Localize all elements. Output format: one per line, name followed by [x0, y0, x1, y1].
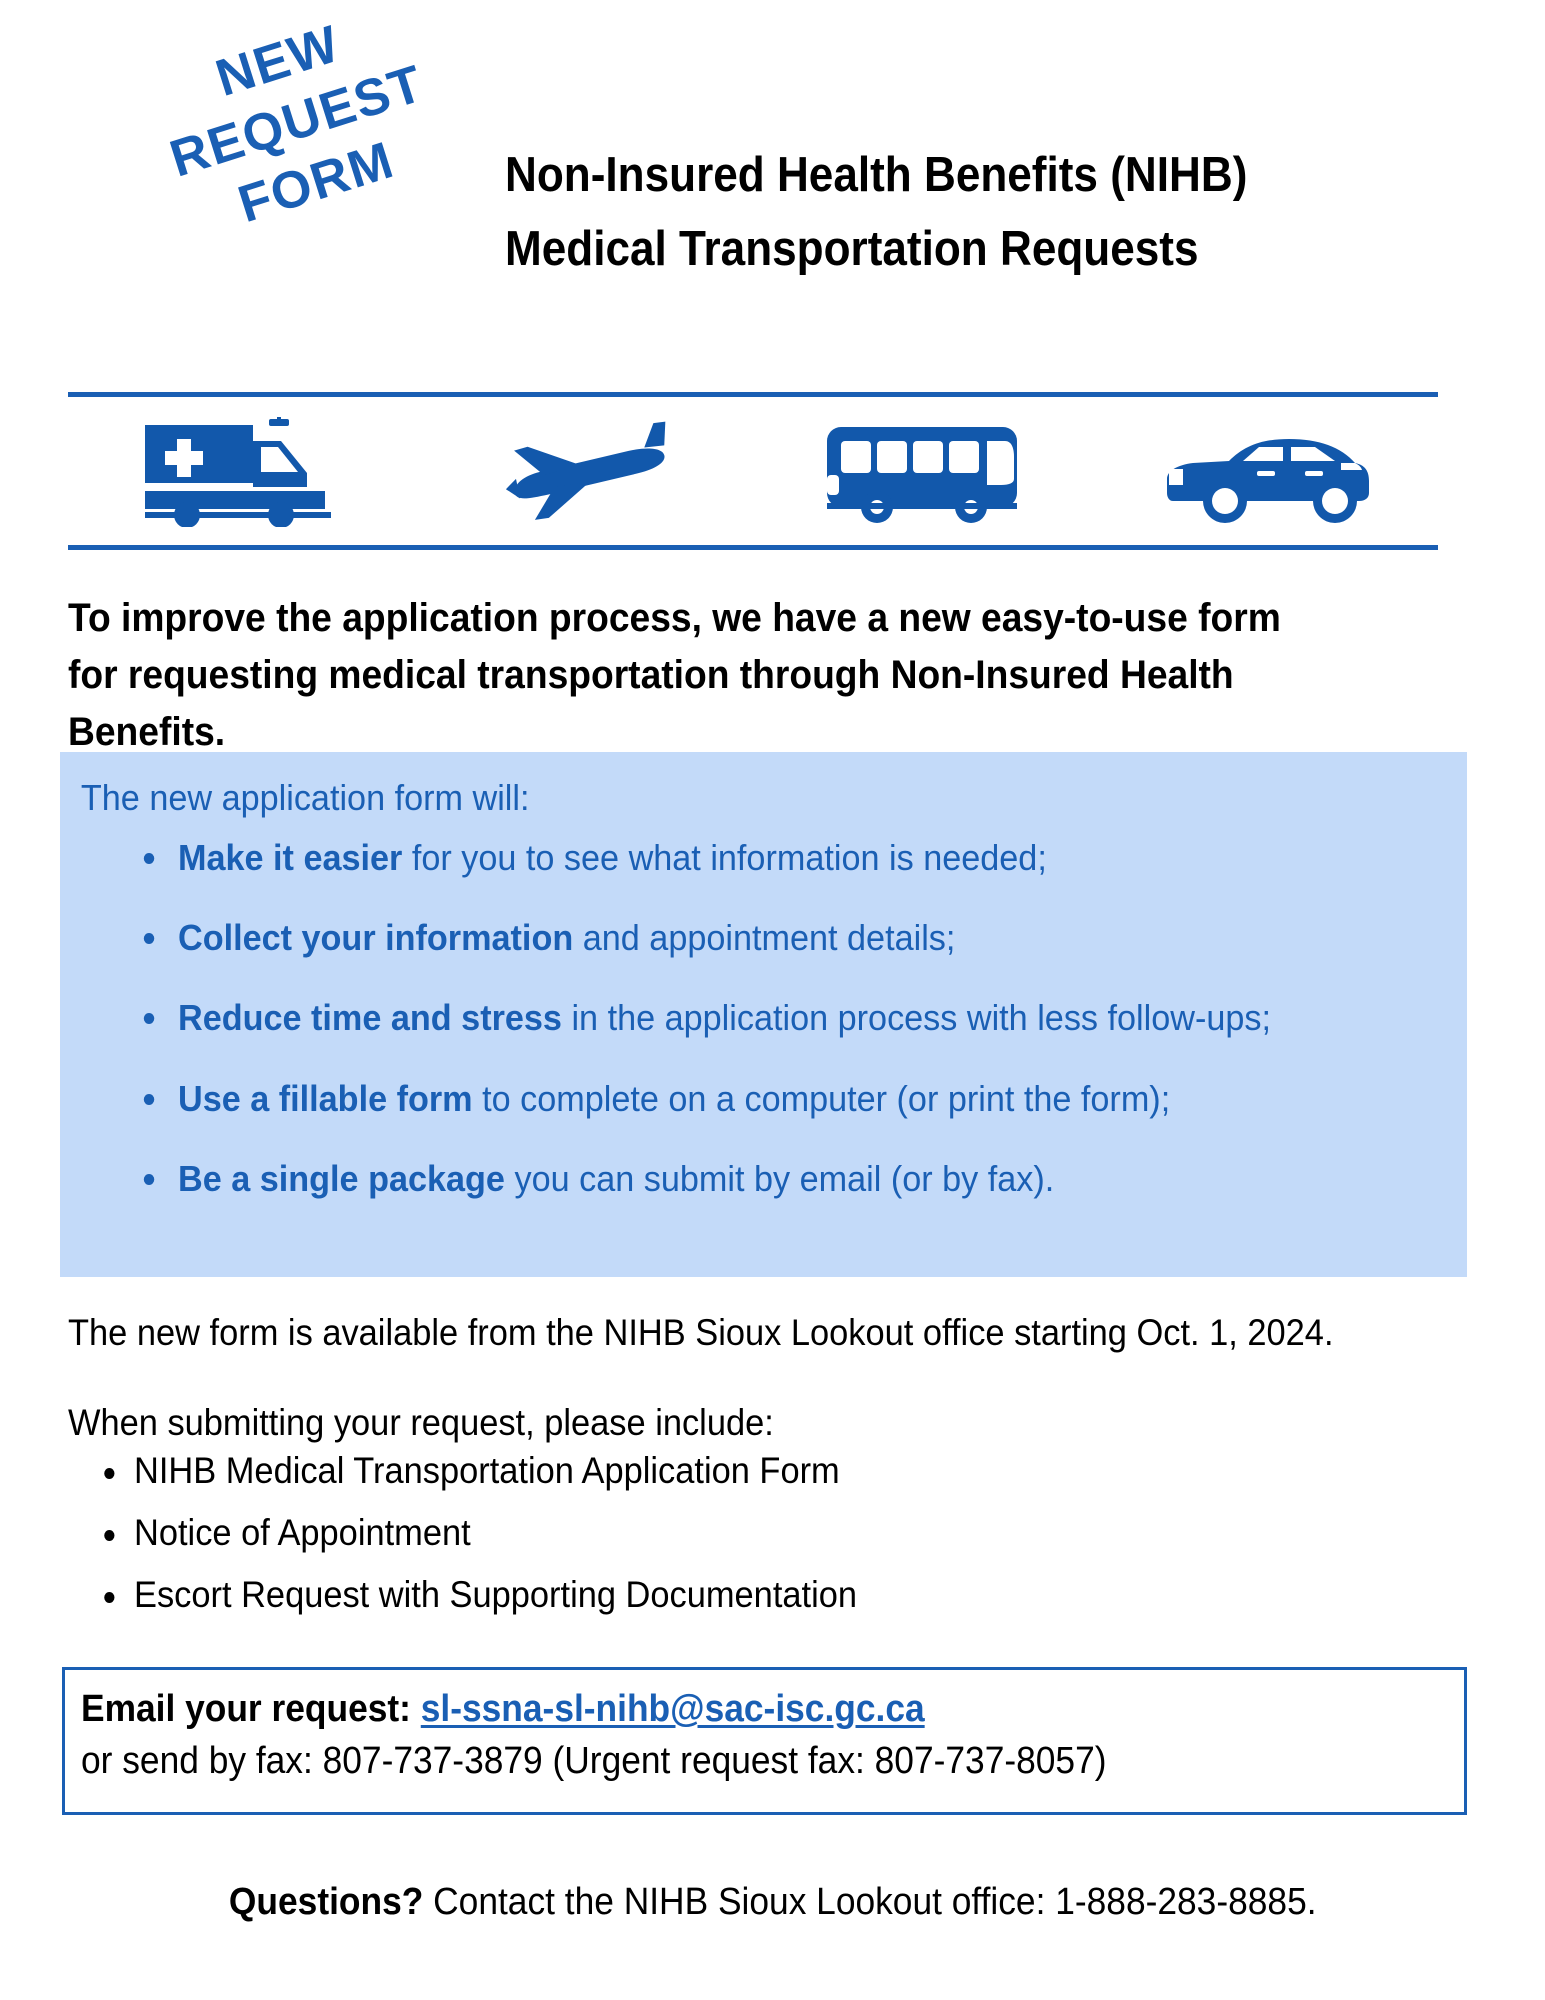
questions-prefix: Questions?: [229, 1881, 423, 1923]
list-item-emphasis: Be a single package: [178, 1158, 505, 1199]
bullet-dot: [144, 1174, 154, 1185]
submit-lead-text: When submitting your request, please inc…: [68, 1400, 774, 1446]
list-item: Use a fillable form to complete on a com…: [178, 1078, 1403, 1120]
list-item: Reduce time and stress in the applicatio…: [178, 997, 1403, 1039]
questions-footer: Questions? Contact the NIHB Sioux Lookou…: [0, 1880, 1545, 1926]
list-item: Collect your information and appointment…: [178, 917, 1403, 959]
fax-line: or send by fax: 807-737-3879 (Urgent req…: [81, 1738, 1367, 1784]
bullet-dot: [104, 1592, 114, 1603]
email-address-link[interactable]: sl-ssna-sl-nihb@sac-isc.gc.ca: [421, 1688, 925, 1730]
list-item: Escort Request with Supporting Documenta…: [134, 1576, 1343, 1613]
page-title: Non-Insured Health Benefits (NIHB) Medic…: [505, 138, 1485, 287]
title-line-2: Medical Transportation Requests: [505, 212, 1387, 286]
airplane-icon: [411, 417, 754, 527]
list-item: Notice of Appointment: [134, 1514, 1343, 1551]
car-icon: [1096, 417, 1439, 527]
callout-lead: The new application form will:: [60, 776, 1397, 819]
list-item-emphasis: Use a fillable form: [178, 1078, 473, 1119]
transport-icon-strip: [68, 402, 1438, 542]
bullet-dot: [144, 933, 154, 944]
list-item: NIHB Medical Transportation Application …: [134, 1452, 1343, 1489]
new-request-form-stamp: NEW REQUEST FORM: [78, 0, 517, 274]
availability-text: The new form is available from the NIHB …: [68, 1310, 1370, 1356]
divider-top: [68, 392, 1438, 397]
list-item-text: in the application process with less fol…: [562, 997, 1271, 1038]
bullet-dot: [144, 853, 154, 864]
list-item-emphasis: Collect your information: [178, 917, 573, 958]
bullet-dot: [144, 1094, 154, 1105]
email-line: Email your request: sl-ssna-sl-nihb@sac-…: [81, 1686, 1367, 1732]
contact-box: Email your request: sl-ssna-sl-nihb@sac-…: [62, 1667, 1467, 1815]
title-line-1: Non-Insured Health Benefits (NIHB): [505, 138, 1387, 212]
list-item-text: Notice of Appointment: [134, 1512, 471, 1553]
bullet-dot: [144, 1013, 154, 1024]
email-label: Email your request:: [81, 1688, 411, 1730]
list-item-text: you can submit by email (or by fax).: [505, 1158, 1054, 1199]
list-item-text: and appointment details;: [573, 917, 955, 958]
list-item-emphasis: Reduce time and stress: [178, 997, 562, 1038]
questions-text: Contact the NIHB Sioux Lookout office: 1…: [423, 1881, 1316, 1923]
intro-paragraph: To improve the application process, we h…: [68, 590, 1333, 760]
list-item-text: Escort Request with Supporting Documenta…: [134, 1574, 857, 1615]
list-item-text: NIHB Medical Transportation Application …: [134, 1450, 840, 1491]
callout-list: Make it easier for you to see what infor…: [60, 837, 1467, 1200]
poster-page: NEW REQUEST FORM Non-Insured Health Bene…: [0, 0, 1545, 2000]
submit-requirements-list: NIHB Medical Transportation Application …: [68, 1452, 1434, 1638]
benefits-callout-box: The new application form will: Make it e…: [60, 752, 1467, 1277]
list-item: Be a single package you can submit by em…: [178, 1158, 1403, 1200]
bullet-dot: [104, 1468, 114, 1479]
questions-inner: Questions? Contact the NIHB Sioux Lookou…: [229, 1880, 1317, 1926]
ambulance-icon: [68, 417, 411, 527]
poster-header: NEW REQUEST FORM Non-Insured Health Bene…: [0, 0, 1545, 300]
list-item-text: for you to see what information is neede…: [402, 837, 1046, 878]
list-item-emphasis: Make it easier: [178, 837, 402, 878]
list-item-text: to complete on a computer (or print the …: [473, 1078, 1171, 1119]
bullet-dot: [104, 1530, 114, 1541]
divider-bottom: [68, 545, 1438, 550]
list-item: Make it easier for you to see what infor…: [178, 837, 1403, 879]
bus-icon: [753, 417, 1096, 527]
